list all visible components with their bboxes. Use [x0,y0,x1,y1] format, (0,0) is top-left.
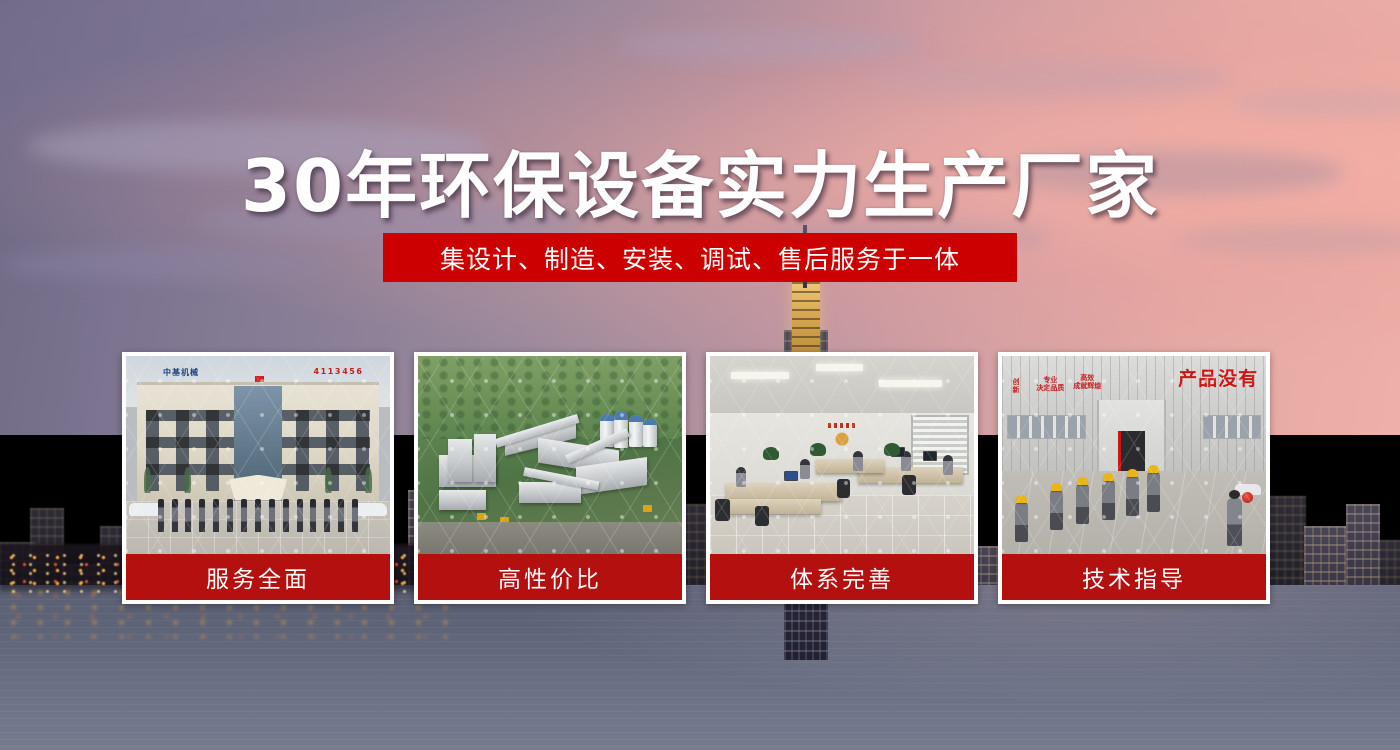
page-title: 30年环保设备实力生产厂家 [0,127,1400,232]
building-phone-number: 4113456 [313,367,363,376]
card-photo-factory-workers: 产品没有 创新 专业决定品质 高效成就辉煌 [1002,356,1266,554]
building-signage: 中基机械 [163,367,199,378]
feature-card[interactable]: 高性价比 [414,352,686,604]
factory-door [1121,431,1145,471]
feature-card-row: 中基机械 4113456 服务全 [122,352,1280,604]
subtitle-text: 集设计、制造、安装、调试、售后服务于一体 [440,240,960,276]
window-blinds [911,415,969,474]
red-helmet-icon [1242,492,1253,503]
feature-card[interactable]: 体系完善 [706,352,978,604]
card-caption: 体系完善 [710,554,974,600]
subtitle-bar: 集设计、制造、安装、调试、售后服务于一体 [383,233,1017,282]
factory-wall-text: 产品没有 [1178,364,1258,391]
feature-card[interactable]: 产品没有 创新 专业决定品质 高效成就辉煌 [998,352,1270,604]
card-photo-aerial-plant [418,356,682,554]
cloud [616,30,924,60]
supervisor-figure [1227,498,1242,546]
cloud [868,60,1232,98]
promo-banner: 30年环保设备实力生产厂家 集设计、制造、安装、调试、售后服务于一体 中基机械 … [0,0,1400,750]
feature-card[interactable]: 中基机械 4113456 服务全 [122,352,394,604]
card-caption: 高性价比 [418,554,682,600]
tower-crown-light [792,282,820,360]
staff-row [158,499,359,533]
wall-logo [824,423,860,449]
flag-icon [255,376,264,382]
card-photo-office-building: 中基机械 4113456 [126,356,390,554]
card-caption: 技术指导 [1002,554,1266,600]
card-photo-office-interior [710,356,974,554]
card-caption: 服务全面 [126,554,390,600]
